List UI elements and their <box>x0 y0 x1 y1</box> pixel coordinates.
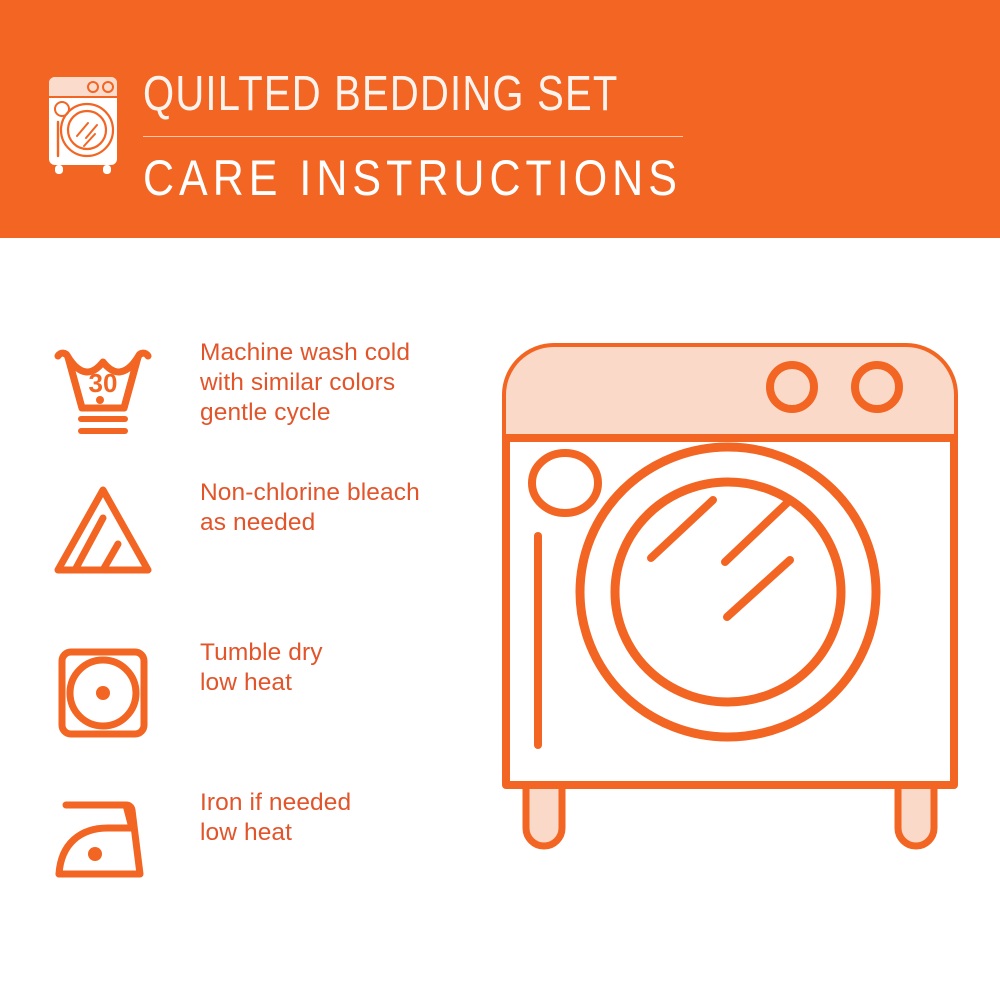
care-item-bleach: Non-chlorine bleach as needed <box>0 478 480 608</box>
page-subtitle: CARE INSTRUCTIONS <box>143 150 703 208</box>
washing-machine-logo-icon <box>44 72 126 176</box>
care-item-machine-wash-label: Machine wash cold with similar colors ge… <box>200 338 480 428</box>
care-item-iron-label: Iron if needed low heat <box>200 788 480 848</box>
care-item-iron: Iron if needed low heat <box>0 788 480 918</box>
iron-low-heat-symbol <box>48 788 158 898</box>
header-banner: QUILTED BEDDING SET CARE INSTRUCTIONS <box>0 0 1000 238</box>
tumble-dry-low-symbol <box>48 638 158 748</box>
care-instruction-list: 30 Machine wash cold with similar colors… <box>0 238 480 1000</box>
title-divider <box>143 136 683 137</box>
top-control-panel <box>506 347 954 438</box>
wash-temperature-label: 30 <box>89 368 118 398</box>
care-item-bleach-label: Non-chlorine bleach as needed <box>200 478 480 538</box>
non-chlorine-bleach-symbol <box>48 478 158 588</box>
machine-wash-30-gentle-symbol: 30 <box>48 338 158 448</box>
care-item-tumble-dry-label: Tumble dry low heat <box>200 638 480 698</box>
care-item-machine-wash: 30 Machine wash cold with similar colors… <box>0 338 480 468</box>
header-text-block: QUILTED BEDDING SET CARE INSTRUCTIONS <box>143 66 703 200</box>
care-item-tumble-dry: Tumble dry low heat <box>0 638 480 768</box>
front-load-washing-machine-illustration <box>480 320 980 940</box>
page-title: QUILTED BEDDING SET <box>143 66 703 122</box>
